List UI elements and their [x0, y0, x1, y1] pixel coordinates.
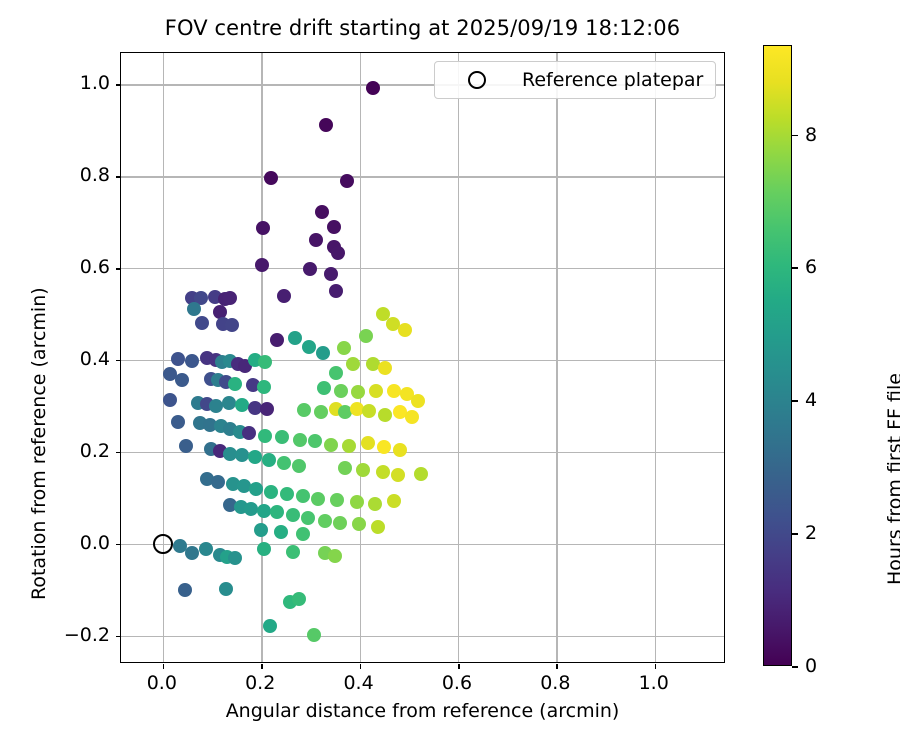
x-tick-label: 0.4 [343, 672, 373, 694]
scatter-point [405, 410, 419, 424]
x-tick [655, 664, 657, 669]
scatter-point [378, 361, 392, 375]
scatter-point [303, 262, 317, 276]
scatter-point [260, 402, 274, 416]
scatter-point [329, 284, 343, 298]
chart-title: FOV centre drift starting at 2025/09/19 … [120, 16, 725, 40]
plot-axes [120, 52, 725, 663]
scatter-point [255, 258, 269, 272]
x-tick [556, 664, 558, 669]
scatter-point [319, 118, 333, 132]
scatter-point [257, 542, 271, 556]
scatter-point [286, 545, 300, 559]
gridline-horizontal [121, 268, 724, 269]
scatter-point [178, 583, 192, 597]
scatter-point [254, 523, 268, 537]
figure: FOV centre drift starting at 2025/09/19 … [0, 0, 900, 750]
gridline-horizontal [121, 636, 724, 637]
x-tick [360, 664, 362, 669]
scatter-point [318, 514, 332, 528]
scatter-point [219, 582, 233, 596]
y-tick [116, 452, 121, 454]
scatter-point [391, 468, 405, 482]
x-tick-label: 0.0 [147, 672, 177, 694]
scatter-point [414, 467, 428, 481]
scatter-point [307, 628, 321, 642]
x-tick-label: 1.0 [639, 672, 669, 694]
scatter-point [331, 246, 345, 260]
legend[interactable]: Reference platepar [434, 61, 716, 99]
y-tick [116, 360, 121, 362]
reference-platepar-marker [153, 534, 173, 554]
colorbar-tick-label: 6 [805, 256, 817, 278]
scatter-point [222, 396, 236, 410]
scatter-point [334, 384, 348, 398]
scatter-point [316, 346, 330, 360]
y-tick-label: 0.2 [80, 440, 110, 462]
y-tick-label: 0.4 [80, 348, 110, 370]
scatter-point [302, 340, 316, 354]
scatter-point [393, 443, 407, 457]
scatter-point [292, 592, 306, 606]
scatter-point [275, 430, 289, 444]
scatter-point [228, 551, 242, 565]
scatter-point [270, 505, 284, 519]
colorbar-tick [792, 135, 798, 137]
scatter-point [330, 493, 344, 507]
scatter-point [262, 453, 276, 467]
y-tick [116, 636, 121, 638]
scatter-point [342, 439, 356, 453]
scatter-point [328, 549, 342, 563]
scatter-point [371, 520, 385, 534]
scatter-point [263, 619, 277, 633]
scatter-point [340, 174, 354, 188]
colorbar-tick-label: 0 [805, 655, 817, 677]
scatter-point [235, 398, 249, 412]
scatter-point [346, 357, 360, 371]
scatter-point [195, 316, 209, 330]
scatter-point [377, 440, 391, 454]
x-axis-label: Angular distance from reference (arcmin) [120, 700, 725, 722]
scatter-point [315, 205, 329, 219]
scatter-point [274, 525, 288, 539]
scatter-point [351, 385, 365, 399]
colorbar-tick [792, 267, 798, 269]
scatter-point [185, 546, 199, 560]
scatter-point [249, 482, 263, 496]
scatter-point [296, 527, 310, 541]
scatter-point [171, 415, 185, 429]
scatter-point [257, 380, 271, 394]
y-tick-label: 0.0 [80, 532, 110, 554]
gridline-vertical [163, 53, 164, 662]
scatter-point [327, 220, 341, 234]
scatter-point [333, 516, 347, 530]
scatter-point [228, 377, 242, 391]
scatter-point [223, 291, 237, 305]
scatter-point [369, 384, 383, 398]
scatter-point [366, 81, 380, 95]
colorbar-tick [792, 533, 798, 535]
colorbar-tick [792, 666, 798, 668]
x-tick [458, 664, 460, 669]
scatter-point [338, 461, 352, 475]
y-tick-label: −0.2 [64, 624, 110, 646]
scatter-point [211, 475, 225, 489]
colorbar-tick [792, 400, 798, 402]
y-tick-label: 0.6 [80, 256, 110, 278]
scatter-point [356, 463, 370, 477]
scatter-point [288, 331, 302, 345]
x-tick [261, 664, 263, 669]
scatter-point [270, 333, 284, 347]
scatter-point [309, 233, 323, 247]
colorbar-tick-label: 2 [805, 522, 817, 544]
scatter-point [362, 404, 376, 418]
scatter-point [324, 267, 338, 281]
scatter-point [277, 289, 291, 303]
y-axis-label: Rotation from reference (arcmin) [28, 287, 50, 600]
scatter-point [242, 426, 256, 440]
gridline-horizontal [121, 176, 724, 177]
y-tick-label: 0.8 [80, 164, 110, 186]
x-tick-label: 0.6 [442, 672, 472, 694]
y-tick-label: 1.0 [80, 72, 110, 94]
scatter-point [324, 438, 338, 452]
scatter-point [225, 318, 239, 332]
x-tick-label: 0.8 [540, 672, 570, 694]
scatter-point [387, 384, 401, 398]
colorbar-label: Hours from first FF file [884, 373, 900, 585]
gridline-vertical [458, 53, 459, 662]
scatter-point [376, 465, 390, 479]
y-tick [116, 176, 121, 178]
scatter-point [368, 497, 382, 511]
scatter-point [280, 487, 294, 501]
scatter-point [257, 504, 271, 518]
scatter-point [292, 459, 306, 473]
y-tick [116, 544, 121, 546]
legend-label-reference-platepar: Reference platepar [522, 69, 703, 91]
scatter-point [398, 323, 412, 337]
scatter-point [199, 542, 213, 556]
scatter-point [293, 433, 307, 447]
scatter-point [314, 405, 328, 419]
legend-marker-reference-platepar-icon [468, 71, 486, 89]
scatter-point [235, 448, 249, 462]
colorbar [763, 45, 792, 666]
scatter-point [297, 403, 311, 417]
scatter-point [301, 511, 315, 525]
scatter-point [378, 408, 392, 422]
scatter-point [286, 508, 300, 522]
scatter-point [411, 394, 425, 408]
scatter-point [175, 373, 189, 387]
x-tick-label: 0.2 [245, 672, 275, 694]
scatter-point [163, 393, 177, 407]
scatter-point [296, 489, 310, 503]
colorbar-tick-label: 4 [805, 389, 817, 411]
scatter-point [187, 302, 201, 316]
scatter-point [171, 352, 185, 366]
scatter-point [337, 341, 351, 355]
scatter-point [350, 495, 364, 509]
scatter-point [258, 429, 272, 443]
scatter-point [248, 450, 262, 464]
y-tick [116, 84, 121, 86]
scatter-point [256, 221, 270, 235]
scatter-point [264, 485, 278, 499]
scatter-point [311, 492, 325, 506]
gridline-vertical [655, 53, 656, 662]
gridline-vertical [360, 53, 361, 662]
scatter-point [361, 436, 375, 450]
scatter-point [277, 456, 291, 470]
scatter-point [308, 434, 322, 448]
scatter-point [258, 355, 272, 369]
scatter-point [179, 439, 193, 453]
y-tick [116, 268, 121, 270]
scatter-point [317, 381, 331, 395]
scatter-point [387, 494, 401, 508]
scatter-point [185, 354, 199, 368]
x-tick [163, 664, 165, 669]
colorbar-tick-label: 8 [805, 124, 817, 146]
scatter-point [352, 517, 366, 531]
scatter-point [329, 366, 343, 380]
scatter-point [264, 171, 278, 185]
scatter-point [359, 329, 373, 343]
gridline-vertical [556, 53, 557, 662]
